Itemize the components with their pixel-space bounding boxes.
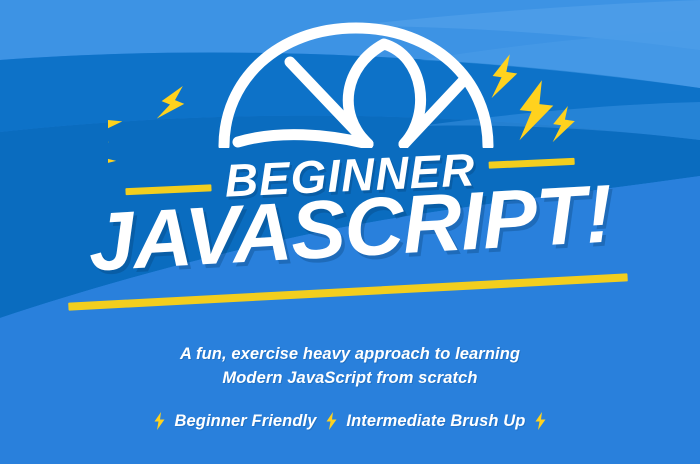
lightning-bolt-icon xyxy=(490,52,520,101)
accent-dash-right xyxy=(489,157,575,168)
lightning-bolt-icon xyxy=(326,412,337,430)
tagline-text-2: Intermediate Brush Up xyxy=(346,412,525,430)
tagline-block: Beginner Friendly Intermediate Brush Up xyxy=(0,412,700,431)
subtitle-line-1: A fun, exercise heavy approach to learni… xyxy=(0,342,700,366)
title-block: BEGINNER JAVASCRIPT! xyxy=(0,140,700,320)
lightning-bolt-icon xyxy=(154,412,165,430)
dome-arch-logo-icon xyxy=(218,22,494,148)
tagline-text-1: Beginner Friendly xyxy=(175,412,317,430)
subtitle-line-2: Modern JavaScript from scratch xyxy=(0,366,700,390)
lightning-bolt-icon xyxy=(155,81,190,126)
poster-canvas: BEGINNER JAVASCRIPT! A fun, exercise hea… xyxy=(0,0,700,464)
subtitle-block: A fun, exercise heavy approach to learni… xyxy=(0,342,700,390)
lightning-bolt-icon xyxy=(535,412,546,430)
